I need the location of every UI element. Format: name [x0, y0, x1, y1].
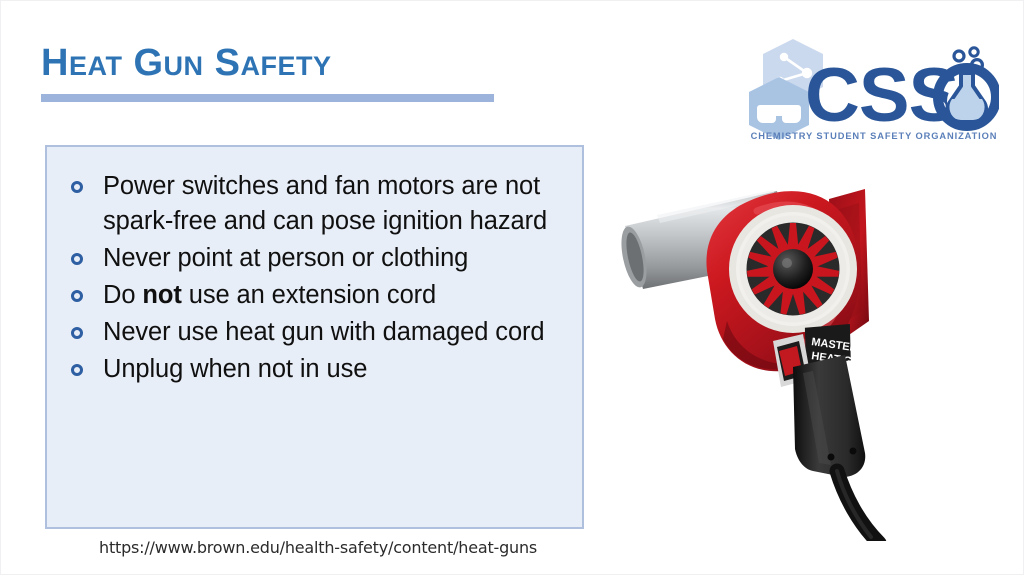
bullet-ring-icon [71, 181, 83, 193]
list-item-text-post: use an extension cord [182, 281, 436, 309]
list-item: Never point at person or clothing [63, 241, 568, 276]
title-underline-rule [41, 94, 494, 102]
slide: Heat Gun Safety Power switches and fan m… [0, 0, 1024, 575]
list-item-text: Power switches and fan motors are not sp… [103, 172, 547, 235]
source-url[interactable]: https://www.brown.edu/health-safety/cont… [99, 538, 537, 557]
bullet-ring-icon [71, 253, 83, 265]
list-item: Never use heat gun with damaged cord [63, 315, 568, 350]
csso-logo: CSS CHEMISTRY STUDENT SAFETY ORGANIZATIO… [749, 21, 999, 143]
list-item-text: Never point at person or clothing [103, 244, 468, 272]
bullet-ring-icon [71, 327, 83, 339]
list-item-text: Never use heat gun with damaged cord [103, 318, 545, 346]
list-item-text: Unplug when not in use [103, 355, 367, 383]
safety-bullet-list: Power switches and fan motors are not sp… [47, 147, 582, 387]
bullet-ring-icon [71, 364, 83, 376]
logo-tagline: CHEMISTRY STUDENT SAFETY ORGANIZATION [751, 131, 998, 141]
list-item: Do not use an extension cord [63, 278, 568, 313]
heat-gun-fan-intake [729, 205, 857, 333]
list-item-text-pre: Do [103, 281, 142, 309]
content-box: Power switches and fan motors are not sp… [45, 145, 584, 529]
heat-gun-image: MASTER HEAT GUN [597, 171, 997, 541]
heat-gun-handle [793, 355, 865, 477]
list-item-text-emphasis: not [142, 281, 181, 309]
list-item: Power switches and fan motors are not sp… [63, 169, 568, 239]
heat-gun-power-cord [837, 471, 879, 541]
list-item: Unplug when not in use [63, 352, 568, 387]
page-title: Heat Gun Safety [41, 43, 331, 85]
bullet-ring-icon [71, 290, 83, 302]
